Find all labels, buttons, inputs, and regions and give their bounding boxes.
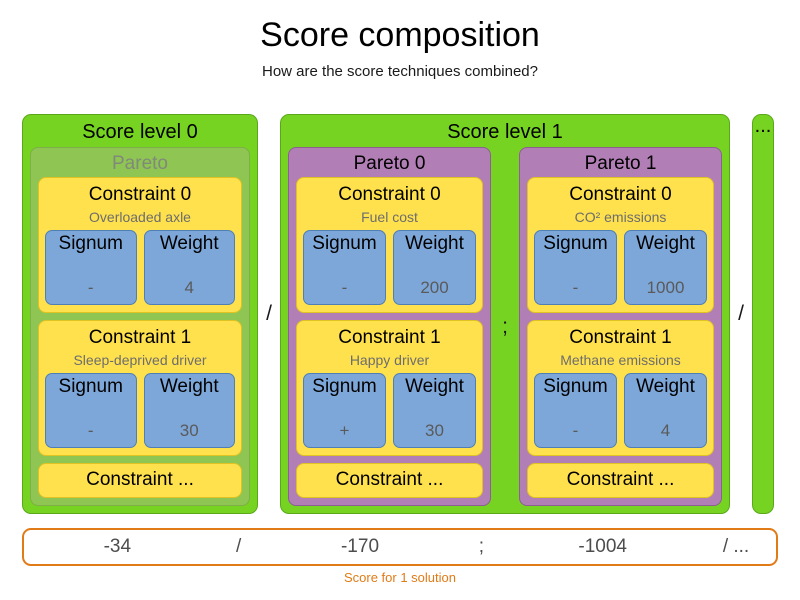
weight-value: 200 [420,278,448,298]
constraint-attributes: Signum - Weight 200 [303,230,476,305]
signum-label: Signum [543,375,607,399]
constraint-attributes: Signum - Weight 4 [45,230,235,305]
constraint-name: Constraint 0 [45,182,235,207]
constraint-attributes: Signum - Weight 30 [45,373,235,448]
constraint-attributes: Signum - Weight 1000 [534,230,707,305]
constraint-attributes: Signum - Weight 4 [534,373,707,448]
signum-box[interactable]: Signum - [534,230,617,305]
constraint-name: Constraint 0 [303,182,476,207]
pareto-1-panel[interactable]: Pareto 1 Constraint 0 CO² emissions Sign… [519,147,722,506]
weight-box[interactable]: Weight 4 [144,230,236,305]
signum-value: - [88,278,94,298]
constraint-more-row[interactable]: Constraint ... [38,463,242,498]
weight-label: Weight [405,375,464,399]
level-separator-0: / [258,114,280,514]
weight-value: 30 [425,421,444,441]
pareto-0-title: Pareto 0 [296,150,483,177]
score-value-2: -1004 [509,536,696,558]
signum-box[interactable]: Signum - [45,230,137,305]
weight-label: Weight [636,375,695,399]
weight-box[interactable]: Weight 30 [144,373,236,448]
signum-label: Signum [543,232,607,256]
pareto-disabled-title: Pareto [38,150,242,177]
weight-value: 30 [180,421,199,441]
score-value-1: -170 [267,536,454,558]
constraint-list: Constraint 0 CO² emissions Signum - Weig… [527,177,714,498]
pareto-separator: ; [498,147,512,506]
signum-label: Signum [59,232,123,256]
constraint-description: Sleep-deprived driver [45,350,235,370]
weight-label: Weight [636,232,695,256]
constraint-list: Constraint 0 Overloaded axle Signum - We… [38,177,242,498]
constraint-card[interactable]: Constraint 1 Methane emissions Signum - … [527,320,714,456]
constraint-name: Constraint 0 [534,182,707,207]
constraint-description: Overloaded axle [45,207,235,227]
signum-label: Signum [59,375,123,399]
constraint-card[interactable]: Constraint 0 CO² emissions Signum - Weig… [527,177,714,313]
score-level-more-panel[interactable]: ... [752,114,774,514]
constraint-card[interactable]: Constraint 0 Fuel cost Signum - Weight 2… [296,177,483,313]
weight-label: Weight [160,375,219,399]
weight-box[interactable]: Weight 30 [393,373,476,448]
weight-box[interactable]: Weight 1000 [624,230,707,305]
score-operator-1: ; [453,536,509,558]
constraint-more-row[interactable]: Constraint ... [527,463,714,498]
signum-box[interactable]: Signum - [303,230,386,305]
pareto-0-panel[interactable]: Pareto 0 Constraint 0 Fuel cost Signum -… [288,147,491,506]
level-separator-1: / [730,114,752,514]
constraint-description: Methane emissions [534,350,707,370]
constraint-description: CO² emissions [534,207,707,227]
score-level-0-title: Score level 0 [30,119,250,147]
score-bar[interactable]: -34 / -170 ; -1004 / ... [22,528,778,566]
score-level-1-panel[interactable]: Score level 1 Pareto 0 Constraint 0 Fuel… [280,114,730,514]
constraint-description: Happy driver [303,350,476,370]
score-caption: Score for 1 solution [22,569,778,586]
weight-value: 4 [185,278,194,298]
pareto-1-title: Pareto 1 [527,150,714,177]
weight-value: 4 [661,421,670,441]
constraint-name: Constraint 1 [303,325,476,350]
score-summary: -34 / -170 ; -1004 / ... Score for 1 sol… [22,528,778,586]
weight-label: Weight [405,232,464,256]
constraint-list: Constraint 0 Fuel cost Signum - Weight 2… [296,177,483,498]
signum-label: Signum [312,375,376,399]
score-value-0: -34 [24,536,211,558]
page-header: Score composition How are the score tech… [0,0,800,82]
constraint-description: Fuel cost [303,207,476,227]
constraint-more-row[interactable]: Constraint ... [296,463,483,498]
signum-label: Signum [312,232,376,256]
score-operator-2: / ... [696,536,776,558]
score-level-0-panel[interactable]: Score level 0 Pareto Constraint 0 Overlo… [22,114,258,514]
constraint-name: Constraint 1 [45,325,235,350]
weight-box[interactable]: Weight 4 [624,373,707,448]
score-composition-diagram: Score level 0 Pareto Constraint 0 Overlo… [0,114,800,514]
signum-value: - [88,421,94,441]
score-level-0-pareto-row: Pareto Constraint 0 Overloaded axle Sign… [30,147,250,506]
score-level-1-title: Score level 1 [288,119,722,147]
weight-value: 1000 [647,278,685,298]
page-title: Score composition [0,14,800,56]
page-subtitle: How are the score techniques combined? [0,62,800,82]
constraint-attributes: Signum + Weight 30 [303,373,476,448]
signum-value: - [573,278,579,298]
weight-label: Weight [160,232,219,256]
signum-box[interactable]: Signum - [534,373,617,448]
weight-box[interactable]: Weight 200 [393,230,476,305]
signum-value: - [573,421,579,441]
signum-box[interactable]: Signum + [303,373,386,448]
score-operator-0: / [211,536,267,558]
constraint-card[interactable]: Constraint 0 Overloaded axle Signum - We… [38,177,242,313]
score-level-1-pareto-row: Pareto 0 Constraint 0 Fuel cost Signum -… [288,147,722,506]
constraint-card[interactable]: Constraint 1 Happy driver Signum + Weigh… [296,320,483,456]
constraint-name: Constraint 1 [534,325,707,350]
signum-value: - [342,278,348,298]
signum-value: + [340,421,350,441]
pareto-disabled-panel[interactable]: Pareto Constraint 0 Overloaded axle Sign… [30,147,250,506]
signum-box[interactable]: Signum - [45,373,137,448]
constraint-card[interactable]: Constraint 1 Sleep-deprived driver Signu… [38,320,242,456]
